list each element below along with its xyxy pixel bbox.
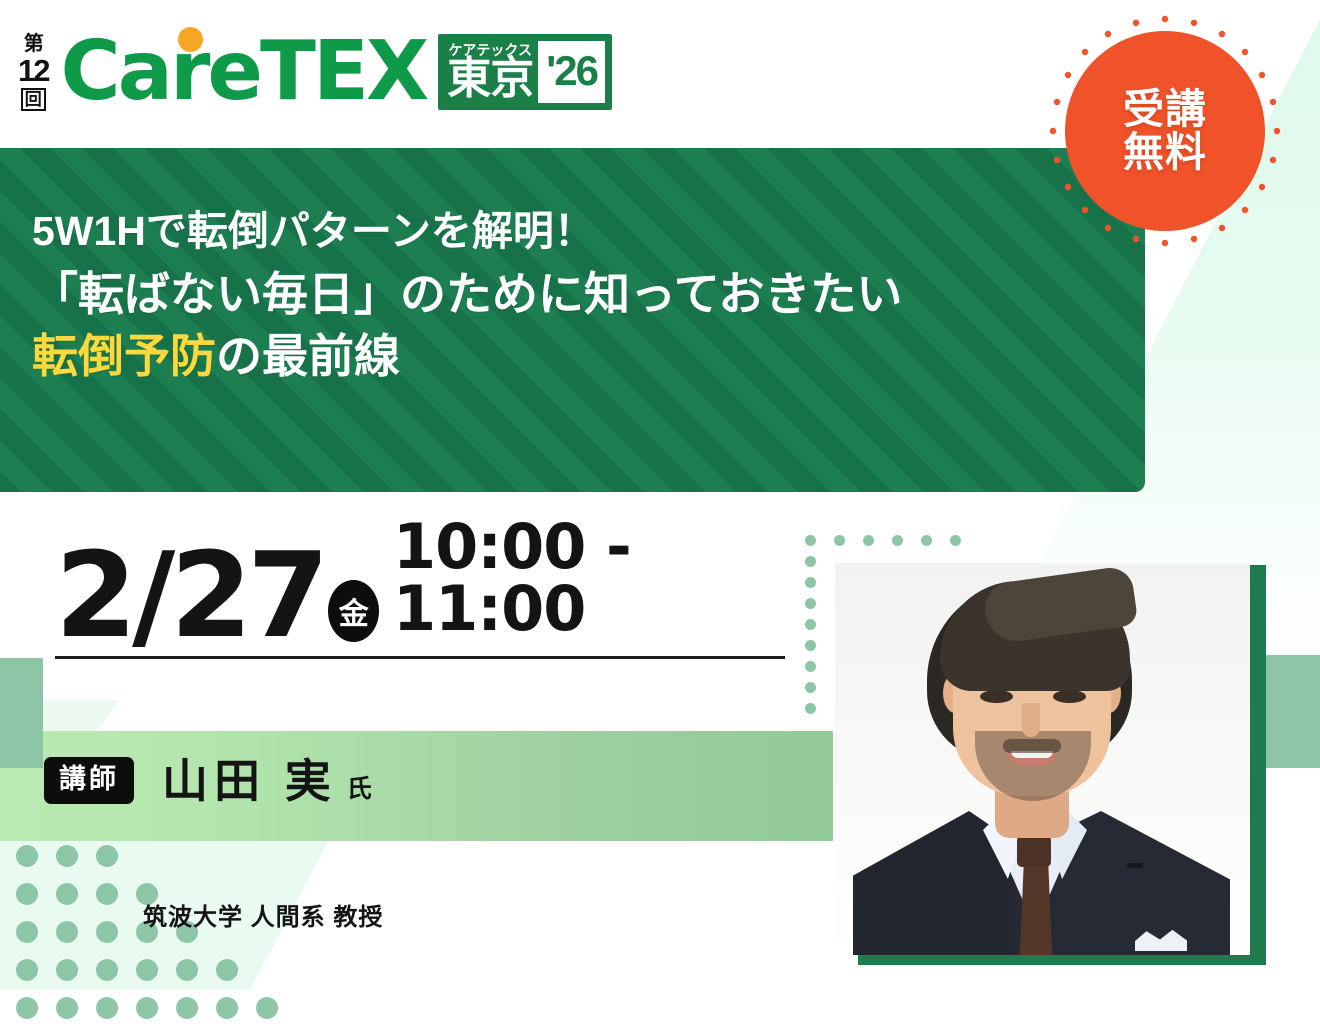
title-highlight: 転倒予防 (32, 330, 216, 382)
dot-icon (136, 959, 158, 981)
edition-prefix: 第 (24, 34, 43, 54)
city-label: 東京 (447, 58, 533, 100)
seminar-title-text: 5W1Hで転倒パターンを解明！ 「転ばない毎日」のために知っておきたい 転倒予防… (32, 206, 1125, 386)
event-time: 10:00 - 11:00 (393, 516, 800, 640)
portrait-necktie-knot (1017, 835, 1051, 867)
decorative-dot-triangle (16, 845, 278, 1035)
dot-icon (805, 640, 816, 651)
edition-number: 12 (18, 55, 48, 86)
dot-row (16, 997, 278, 1019)
dot-icon (16, 997, 38, 1019)
year-label: '26 (538, 41, 605, 103)
speaker-name: 山田 実 氏 (162, 758, 372, 804)
portrait-necktie (1018, 863, 1054, 955)
dot-icon (96, 845, 118, 867)
dot-row (16, 959, 278, 981)
speaker-affiliation: 筑波大学 人間系 教授 (143, 897, 383, 932)
badge-circle: 受講 無料 (1065, 31, 1265, 231)
dot-icon (176, 997, 198, 1019)
dot-icon (56, 997, 78, 1019)
dot-icon (96, 959, 118, 981)
portrait-eye-left (980, 690, 1013, 703)
brand-wordmark: CareTEX (60, 31, 426, 113)
dot-icon (96, 997, 118, 1019)
badge-line-1: 受講 (1123, 88, 1207, 131)
dot-icon (96, 921, 118, 943)
title-line-2: 「転ばない毎日」のために知っておきたい (32, 266, 1125, 324)
dot-icon (16, 921, 38, 943)
dot-icon (16, 959, 38, 981)
sage-accent-block-right (1266, 655, 1320, 768)
dot-icon (136, 997, 158, 1019)
lecturer-role-tag: 講師 (44, 757, 134, 804)
dot-icon (96, 883, 118, 905)
dot-icon (56, 921, 78, 943)
portrait-mustache (1003, 739, 1061, 753)
speaker-info: 講師 山田 実 氏 (44, 757, 372, 804)
dot-icon (176, 959, 198, 981)
day-of-week-badge: 金 (328, 580, 379, 642)
title-line-1: 5W1Hで転倒パターンを解明！ (32, 206, 1125, 258)
dot-icon (921, 535, 932, 546)
dot-icon (216, 959, 238, 981)
dot-icon (805, 535, 816, 546)
schedule-block: 2/27 金 10:00 - 11:00 (55, 540, 800, 659)
dot-icon (56, 845, 78, 867)
seminar-title-band: 5W1Hで転倒パターンを解明！ 「転ばない毎日」のために知っておきたい 転倒予防… (0, 148, 1145, 492)
dot-icon (56, 883, 78, 905)
dot-row-top (805, 535, 961, 546)
dot-icon (892, 535, 903, 546)
dot-icon (216, 997, 238, 1019)
dot-icon (56, 959, 78, 981)
dot-icon (805, 619, 816, 630)
edition-stack: 第 12 回 (18, 34, 48, 111)
title-line-3: 転倒予防の最前線 (32, 328, 1125, 386)
speaker-name-suffix: 氏 (347, 777, 372, 802)
portrait-lapel-notch (1127, 863, 1143, 868)
dot-icon (805, 556, 816, 567)
city-year-box: ケアテックス 東京 '26 (438, 34, 612, 110)
city-block: ケアテックス 東京 (447, 43, 533, 100)
dot-icon (863, 535, 874, 546)
event-logo: 第 12 回 CareTEX ケアテックス 東京 '26 (18, 22, 612, 122)
dot-icon (834, 535, 845, 546)
speaker-portrait-photo (835, 563, 1250, 955)
portrait-nose (1022, 703, 1040, 737)
dot-icon (805, 682, 816, 693)
portrait-eye-right (1053, 690, 1086, 703)
dot-icon (950, 535, 961, 546)
dot-icon (16, 845, 38, 867)
free-admission-badge: 受講 無料 (1049, 15, 1281, 247)
dot-icon (16, 883, 38, 905)
dot-icon (256, 997, 278, 1019)
banner-canvas: 第 12 回 CareTEX ケアテックス 東京 '26 (0, 0, 1320, 990)
dot-icon (805, 598, 816, 609)
brand-wordmark-text: CareTEX (60, 24, 426, 119)
dot-icon (805, 703, 816, 714)
dot-icon (805, 577, 816, 588)
event-date: 2/27 (55, 541, 324, 650)
speaker-photo-zone (800, 525, 1320, 990)
schedule-row: 2/27 金 10:00 - 11:00 (55, 540, 800, 650)
edition-suffix: 回 (21, 88, 46, 111)
badge-line-2: 無料 (1123, 131, 1207, 174)
title-line-3-rest: の最前線 (216, 330, 400, 382)
dot-row (16, 845, 278, 867)
sage-accent-block-left (0, 658, 43, 768)
speaker-name-text: 山田 実 (162, 758, 337, 804)
dot-icon (805, 661, 816, 672)
